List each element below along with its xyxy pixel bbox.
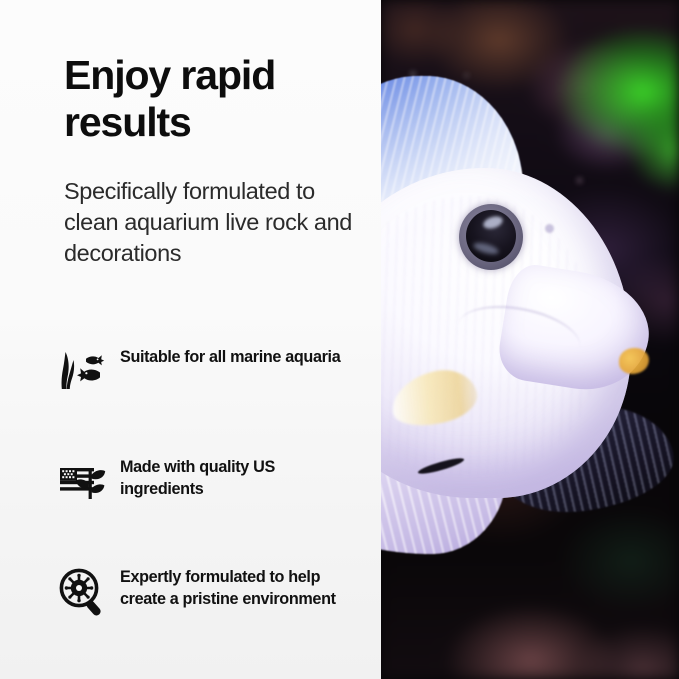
aquarium-scene xyxy=(381,0,679,679)
subtitle: Specifically formulated to clean aquariu… xyxy=(64,176,364,269)
fish-seaweed-icon xyxy=(56,345,110,399)
text-panel: Enjoy rapid results Specifically formula… xyxy=(0,0,381,679)
fish-nostril xyxy=(545,224,554,233)
tang-fish xyxy=(381,76,667,546)
feature-list: Suitable for all marine aquaria xyxy=(0,345,381,623)
feature-item-marine-aquaria: Suitable for all marine aquaria xyxy=(0,345,381,403)
feature-item-us-ingredients: Made with quality US ingredients xyxy=(0,455,381,513)
product-feature-panel: Enjoy rapid results Specifically formula… xyxy=(0,0,679,679)
snout-tip xyxy=(619,348,649,374)
magnifier-microbe-icon xyxy=(56,565,110,619)
feature-label: Made with quality US ingredients xyxy=(120,455,350,500)
product-photo xyxy=(381,0,679,679)
feature-item-pristine-environment: Expertly formulated to help create a pri… xyxy=(0,565,381,623)
page-title: Enjoy rapid results xyxy=(64,52,364,146)
us-flag-plant-icon xyxy=(56,455,110,509)
feature-label: Suitable for all marine aquaria xyxy=(120,345,340,369)
feature-label: Expertly formulated to help create a pri… xyxy=(120,565,350,610)
